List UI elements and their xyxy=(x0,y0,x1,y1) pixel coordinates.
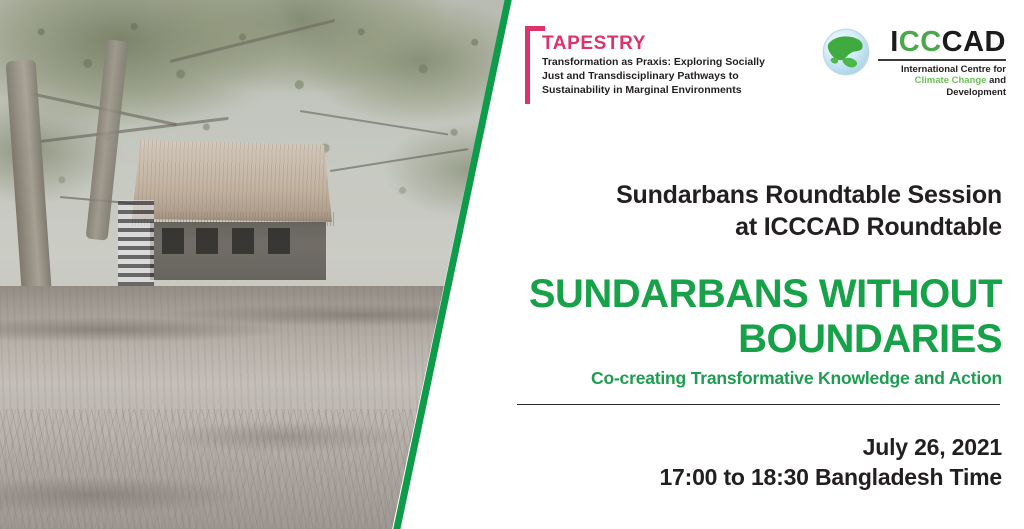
session-heading: Sundarbans Roundtable Session at ICCCAD … xyxy=(524,180,1002,243)
globe-icon xyxy=(820,26,872,78)
main-title-line-2: BOUNDARIES xyxy=(524,317,1002,362)
icccad-tagline: International Centre for Climate Change … xyxy=(901,64,1006,100)
photo-haze-overlay xyxy=(0,0,516,529)
tapestry-wordmark: TAPESTRY xyxy=(542,26,775,53)
event-poster: TAPESTRY Transformation as Praxis: Explo… xyxy=(0,0,1024,529)
main-title-line-1: SUNDARBANS WITHOUT xyxy=(524,272,1002,317)
icccad-tagline-line-3: Development xyxy=(946,87,1006,98)
icccad-wordmark-part-3: CAD xyxy=(942,26,1006,58)
hero-photograph xyxy=(0,0,516,529)
main-title-block: SUNDARBANS WITHOUT BOUNDARIES Co-creatin… xyxy=(524,272,1002,389)
icccad-divider-rule xyxy=(878,59,1006,61)
tapestry-logo: TAPESTRY Transformation as Praxis: Explo… xyxy=(525,26,775,98)
event-date: July 26, 2021 xyxy=(524,432,1002,462)
icccad-text-block: ICCCAD International Centre for Climate … xyxy=(878,24,1006,99)
content-panel: TAPESTRY Transformation as Praxis: Explo… xyxy=(516,0,1024,529)
horizontal-divider-rule xyxy=(517,404,1000,405)
corner-bracket-icon xyxy=(525,26,545,104)
icccad-tagline-line-2-rest: and xyxy=(986,75,1006,86)
tapestry-subtitle: Transformation as Praxis: Exploring Soci… xyxy=(542,55,778,98)
main-title-tagline: Co-creating Transformative Knowledge and… xyxy=(524,368,1002,389)
session-heading-line-2: at ICCCAD Roundtable xyxy=(524,212,1002,244)
icccad-logo: ICCCAD International Centre for Climate … xyxy=(820,24,1006,99)
event-datetime-block: July 26, 2021 17:00 to 18:30 Bangladesh … xyxy=(524,432,1002,493)
session-heading-line-1: Sundarbans Roundtable Session xyxy=(524,180,1002,212)
icccad-wordmark-part-2: CC xyxy=(899,26,942,58)
event-time: 17:00 to 18:30 Bangladesh Time xyxy=(524,462,1002,492)
icccad-wordmark-part-1: I xyxy=(890,26,899,58)
icccad-tagline-green: Climate Change xyxy=(915,75,987,86)
icccad-wordmark: ICCCAD xyxy=(890,28,1006,57)
icccad-tagline-line-1: International Centre for xyxy=(901,64,1006,75)
